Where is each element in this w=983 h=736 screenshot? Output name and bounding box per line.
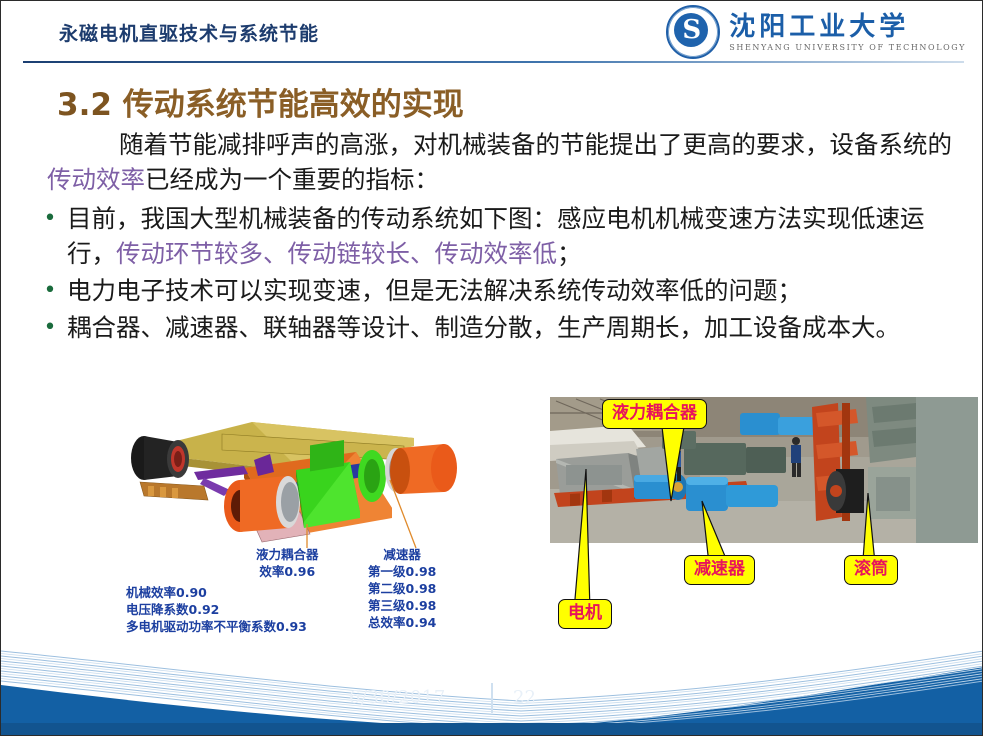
list-item-text: 电力电子技术可以实现变速，但是无法解决系统传动效率低的问题； (67, 273, 963, 308)
cad-label-reducer-line1: 减速器 (368, 546, 436, 563)
slide-header: 永磁电机直驱技术与系统节能 S 沈阳工业大学 SHENYANG UNIVERSI… (1, 1, 983, 63)
header-divider (23, 61, 964, 63)
list-item: • 目前，我国大型机械装备的传动系统如下图：感应电机机械变速方法实现低速运行，传… (33, 201, 963, 271)
callout-drum: 滚筒 (844, 555, 898, 585)
list-item: • 耦合器、减速器、联轴器等设计、制造分散，生产周期长，加工设备成本大。 (33, 310, 963, 345)
cad-label-reducer-line5: 总效率0.94 (368, 614, 436, 631)
slide-body: 随着节能减排呼声的高涨，对机械装备的节能提出了更高的要求，设备系统的传动效率已经… (33, 127, 963, 347)
drive-system-cad-figure: 液力耦合器 效率0.96 减速器 第一级0.98 第二级0.98 第三级0.98… (104, 416, 476, 641)
efficiency-line2: 电压降系数0.92 (126, 601, 307, 618)
cad-render-image (104, 416, 476, 551)
bullet1-highlight3: 传动效率低 (435, 239, 558, 268)
bullet-marker-icon: • (33, 310, 67, 345)
logo-wordmark: 沈阳工业大学 SHENYANG UNIVERSITY OF TECHNOLOGY (729, 12, 966, 52)
photo-right-extension (916, 397, 978, 543)
cad-label-reducer-line4: 第三级0.98 (368, 597, 436, 614)
bullet1-sep2: 、 (410, 239, 435, 268)
site-photo-figure: 液力耦合器 减速器 滚筒 电机 (550, 397, 978, 637)
bullet1-highlight2: 传动链较长 (288, 239, 411, 268)
bullet1-highlight1: 传动环节较多 (116, 239, 263, 268)
cad-label-coupler: 液力耦合器 效率0.96 (256, 546, 319, 580)
university-seal-icon: S (666, 5, 720, 59)
cad-label-reducer-line3: 第二级0.98 (368, 580, 436, 597)
callout-motor: 电机 (558, 599, 612, 629)
list-item-text: 目前，我国大型机械装备的传动系统如下图：感应电机机械变速方法实现低速运行，传动环… (67, 201, 963, 271)
slide-canvas: 永磁电机直驱技术与系统节能 S 沈阳工业大学 SHENYANG UNIVERSI… (0, 0, 983, 736)
logo-name-cn: 沈阳工业大学 (729, 12, 966, 42)
running-title: 永磁电机直驱技术与系统节能 (59, 19, 319, 46)
footer-divider (491, 683, 493, 713)
footer-date: 6/30/2017 (349, 687, 446, 708)
intro-part2: 已经成为一个重要的指标： (145, 165, 439, 194)
intro-highlight: 传动效率 (47, 165, 145, 194)
title-text: 传动系统节能高效的实现 (123, 87, 464, 123)
bullet-marker-icon: • (33, 273, 67, 308)
intro-part1: 随着节能减排呼声的高涨，对机械装备的节能提出了更高的要求，设备系统的 (119, 130, 952, 159)
bullet1-part2: ； (557, 239, 582, 268)
cad-label-reducer: 减速器 第一级0.98 第二级0.98 第三级0.98 总效率0.94 (368, 546, 436, 631)
cad-label-coupler-line2: 效率0.96 (256, 563, 319, 580)
list-item-text: 耦合器、减速器、联轴器等设计、制造分散，生产周期长，加工设备成本大。 (67, 310, 963, 345)
cad-label-efficiencies: 机械效率0.90 电压降系数0.92 多电机驱动功率不平衡系数0.93 (126, 584, 307, 635)
cad-label-reducer-line2: 第一级0.98 (368, 563, 436, 580)
list-item: • 电力电子技术可以实现变速，但是无法解决系统传动效率低的问题； (33, 273, 963, 308)
seal-ring (668, 7, 718, 57)
bullet-marker-icon: • (33, 201, 67, 236)
efficiency-line3: 多电机驱动功率不平衡系数0.93 (126, 618, 307, 635)
intro-paragraph: 随着节能减排呼声的高涨，对机械装备的节能提出了更高的要求，设备系统的传动效率已经… (33, 127, 963, 197)
logo-name-en: SHENYANG UNIVERSITY OF TECHNOLOGY (729, 43, 966, 52)
callout-reducer: 减速器 (684, 555, 755, 585)
callout-coupler: 液力耦合器 (602, 399, 707, 429)
title-number: 3.2 (57, 87, 112, 123)
footer-page-number: 22 (513, 687, 536, 708)
slide-footer: 6/30/2017 22 (1, 649, 983, 735)
cad-label-coupler-line1: 液力耦合器 (256, 546, 319, 563)
bullet1-sep1: 、 (263, 239, 288, 268)
efficiency-line1: 机械效率0.90 (126, 584, 307, 601)
page-title: 3.2 传动系统节能高效的实现 (57, 79, 464, 124)
university-logo: S 沈阳工业大学 SHENYANG UNIVERSITY OF TECHNOLO… (666, 4, 966, 60)
